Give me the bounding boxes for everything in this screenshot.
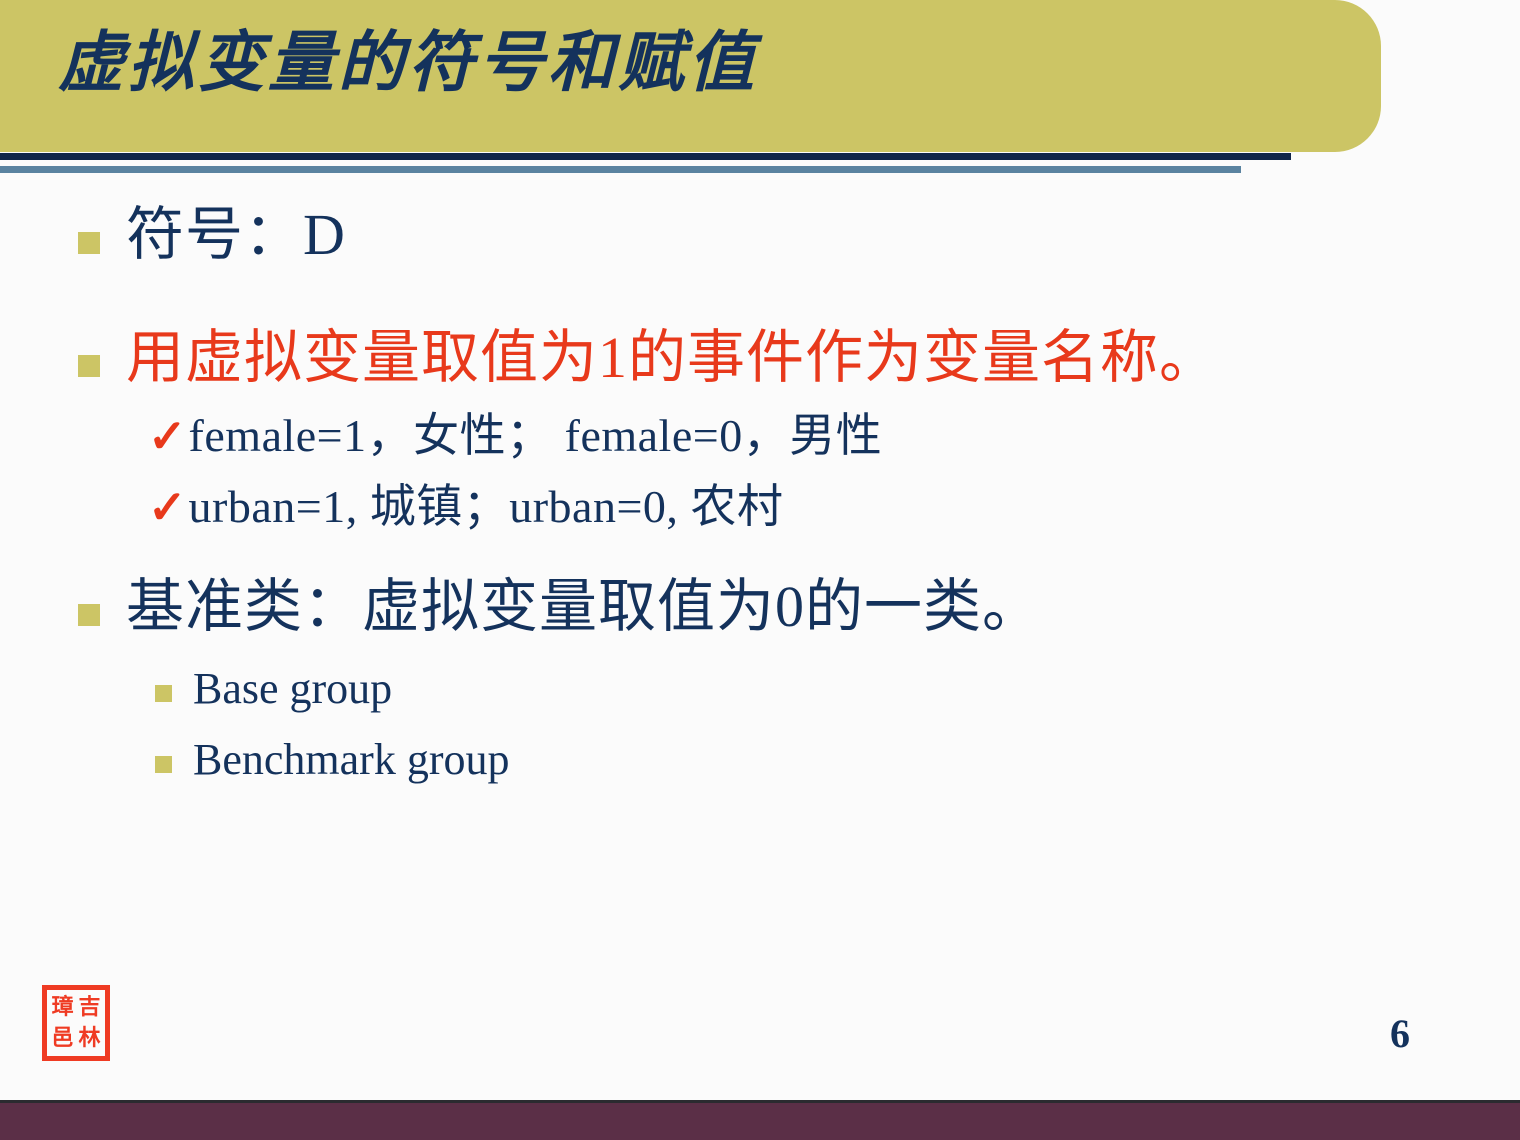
- seal-character-1: 璋: [50, 993, 75, 1022]
- sub-bullet-benchmark-group: Benchmark group: [0, 732, 1520, 787]
- sub-bullet-base-group-text: Base group: [193, 661, 392, 716]
- bullet-square-marker: [78, 604, 100, 626]
- seal-character-4: 林: [77, 1024, 102, 1053]
- seal-stamp-icon: 璋 吉 邑 林: [42, 985, 110, 1061]
- bullet-square-marker-small: [155, 756, 172, 773]
- bullet-square-marker: [78, 355, 100, 377]
- slide: 虚拟变量的符号和赋值 符号：D 用虚拟变量取值为1的事件作为变量名称。 ✓ fe…: [0, 0, 1520, 1140]
- bullet-base-class: 基准类：虚拟变量取值为0的一类。: [0, 572, 1520, 643]
- bullet-base-class-text: 基准类：虚拟变量取值为0的一类。: [126, 572, 1041, 643]
- sub-bullet-female: ✓ female=1，女性； female=0，男性: [0, 408, 1520, 463]
- bullet-symbol-text: 符号：D: [126, 200, 346, 271]
- check-icon: ✓: [148, 485, 187, 531]
- bullet-square-marker: [78, 232, 100, 254]
- bullet-symbol: 符号：D: [0, 200, 1520, 271]
- title-divider-navy: [0, 153, 1291, 160]
- bullet-naming-rule: 用虚拟变量取值为1的事件作为变量名称。: [0, 323, 1520, 394]
- sub-bullet-urban-text: urban=1, 城镇；urban=0, 农村: [189, 479, 784, 534]
- page-number: 6: [1390, 1010, 1410, 1057]
- check-icon: ✓: [148, 414, 187, 460]
- slide-body: 符号：D 用虚拟变量取值为1的事件作为变量名称。 ✓ female=1，女性； …: [0, 200, 1520, 1020]
- seal-character-2: 吉: [77, 993, 102, 1022]
- title-divider-steel: [0, 166, 1241, 173]
- sub-bullet-female-text: female=1，女性； female=0，男性: [189, 408, 883, 463]
- sub-bullet-base-group: Base group: [0, 661, 1520, 716]
- sub-bullet-benchmark-group-text: Benchmark group: [193, 732, 509, 787]
- sub-bullet-urban: ✓ urban=1, 城镇；urban=0, 农村: [0, 479, 1520, 534]
- bullet-naming-rule-text: 用虚拟变量取值为1的事件作为变量名称。: [126, 323, 1218, 394]
- bullet-square-marker-small: [155, 685, 172, 702]
- seal-character-3: 邑: [50, 1024, 75, 1053]
- slide-title: 虚拟变量的符号和赋值: [58, 28, 1338, 101]
- bottom-band: [0, 1100, 1520, 1140]
